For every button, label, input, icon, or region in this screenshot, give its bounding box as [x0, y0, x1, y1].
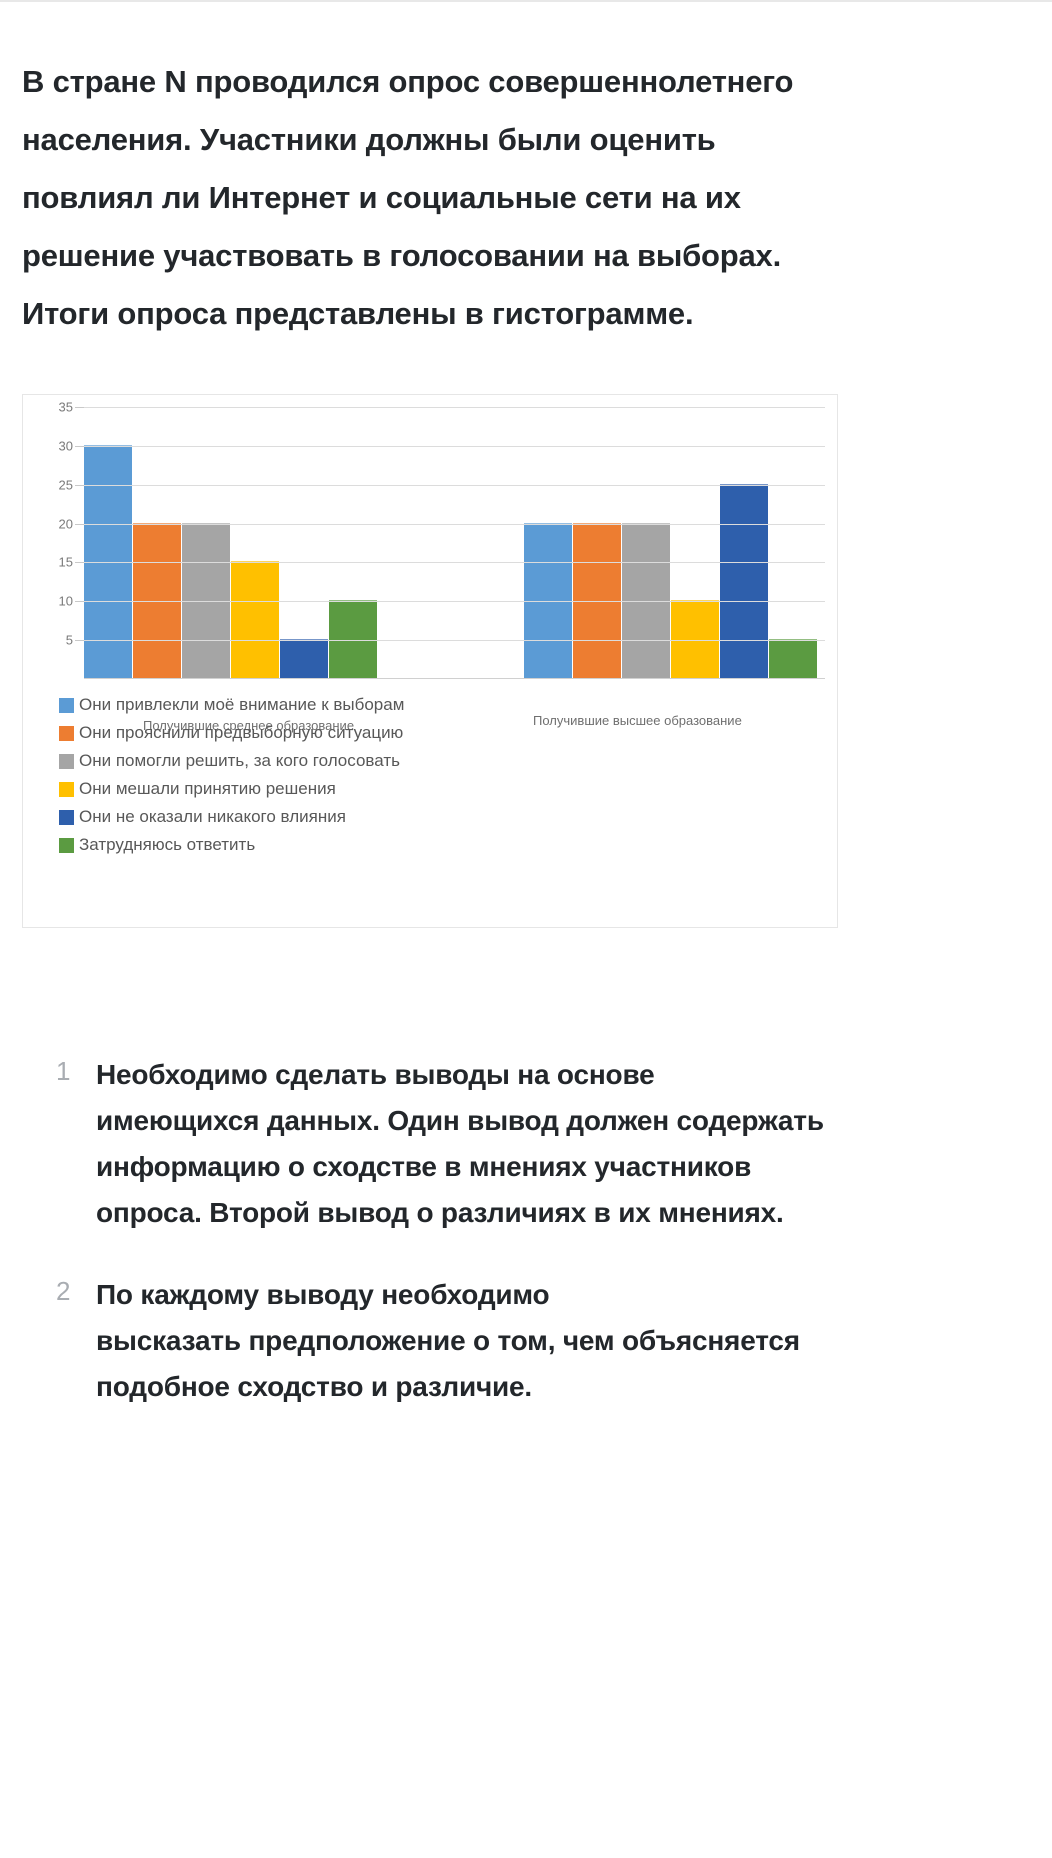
bar — [769, 639, 817, 679]
legend-item: Они не оказали никакого влияния — [59, 803, 529, 831]
legend-label: Они привлекли моё внимание к выборам — [79, 695, 404, 715]
task-body-text: имеющихся данных. Один вывод должен соде… — [96, 1105, 824, 1228]
gridline — [84, 562, 825, 563]
task-text: Необходимо сделать выводы на основеимеющ… — [96, 1052, 856, 1236]
y-axis-tick-mark — [75, 640, 84, 641]
gridline — [84, 407, 825, 408]
legend-label: Они прояснили предвыборную ситуацию — [79, 723, 403, 743]
legend-swatch-icon — [59, 698, 74, 713]
y-axis-tick-label: 25 — [59, 477, 73, 492]
top-divider — [0, 0, 1052, 2]
legend-item: Они прояснили предвыборную ситуацию — [59, 719, 529, 747]
gridline — [84, 640, 825, 641]
bar-group — [84, 407, 378, 679]
task-number: 1 — [56, 1056, 70, 1087]
task-text: По каждому выводу необходимовысказать пр… — [96, 1272, 856, 1410]
legend-label: Они помогли решить, за кого голосовать — [79, 751, 400, 771]
y-axis-tick-mark — [75, 524, 84, 525]
legend-item: Они привлекли моё внимание к выборам — [59, 691, 529, 719]
task-first-line: По каждому выводу необходимо — [96, 1272, 856, 1318]
x-axis-line — [84, 678, 825, 679]
gridline — [84, 446, 825, 447]
task-list: 1Необходимо сделать выводы на основеимею… — [56, 1052, 856, 1446]
legend-label: Они мешали принятию решения — [79, 779, 336, 799]
bar — [280, 639, 328, 679]
y-axis-tick-label: 35 — [59, 400, 73, 415]
y-axis-tick-label: 20 — [59, 516, 73, 531]
y-axis-tick-label: 5 — [66, 633, 73, 648]
gridline — [84, 485, 825, 486]
legend-swatch-icon — [59, 838, 74, 853]
y-axis-tick-mark — [75, 485, 84, 486]
gridline — [84, 524, 825, 525]
legend-swatch-icon — [59, 726, 74, 741]
legend-label: Затрудняюсь ответить — [79, 835, 255, 855]
chart-legend: Они привлекли моё внимание к выборамОни … — [59, 691, 529, 859]
y-axis-tick-mark — [75, 407, 84, 408]
intro-paragraph: В стране N проводился опрос совершенноле… — [22, 53, 852, 343]
y-axis-tick-mark — [75, 446, 84, 447]
task-item: 1Необходимо сделать выводы на основеимею… — [56, 1052, 856, 1236]
legend-label: Они не оказали никакого влияния — [79, 807, 346, 827]
bar-group — [524, 407, 818, 679]
y-axis-tick-label: 30 — [59, 438, 73, 453]
y-axis-tick-label: 10 — [59, 594, 73, 609]
task-number: 2 — [56, 1276, 70, 1307]
chart-card: 5101520253035 Получившие среднее образов… — [22, 394, 838, 928]
legend-item: Затрудняюсь ответить — [59, 831, 529, 859]
x-axis-label-right: Получившие высшее образование — [533, 713, 742, 728]
task-body-text: высказать предположение о том, чем объяс… — [96, 1325, 800, 1402]
plot-area — [84, 407, 825, 679]
bar — [231, 561, 279, 679]
y-axis-tick-label: 15 — [59, 555, 73, 570]
gridline — [84, 601, 825, 602]
legend-swatch-icon — [59, 782, 74, 797]
chart-plot-region: 5101520253035 Получившие среднее образов… — [23, 395, 837, 705]
legend-item: Они мешали принятию решения — [59, 775, 529, 803]
legend-swatch-icon — [59, 810, 74, 825]
y-axis-labels: 5101520253035 — [39, 407, 73, 679]
legend-item: Они помогли решить, за кого голосовать — [59, 747, 529, 775]
task-first-line: Необходимо сделать выводы на основе — [96, 1052, 856, 1098]
bar — [720, 484, 768, 679]
task-item: 2По каждому выводу необходимовысказать п… — [56, 1272, 856, 1410]
y-axis-tick-mark — [75, 601, 84, 602]
legend-swatch-icon — [59, 754, 74, 769]
y-axis-tick-mark — [75, 562, 84, 563]
page-root: В стране N проводился опрос совершенноле… — [0, 0, 1052, 1858]
bar-groups — [84, 407, 825, 679]
